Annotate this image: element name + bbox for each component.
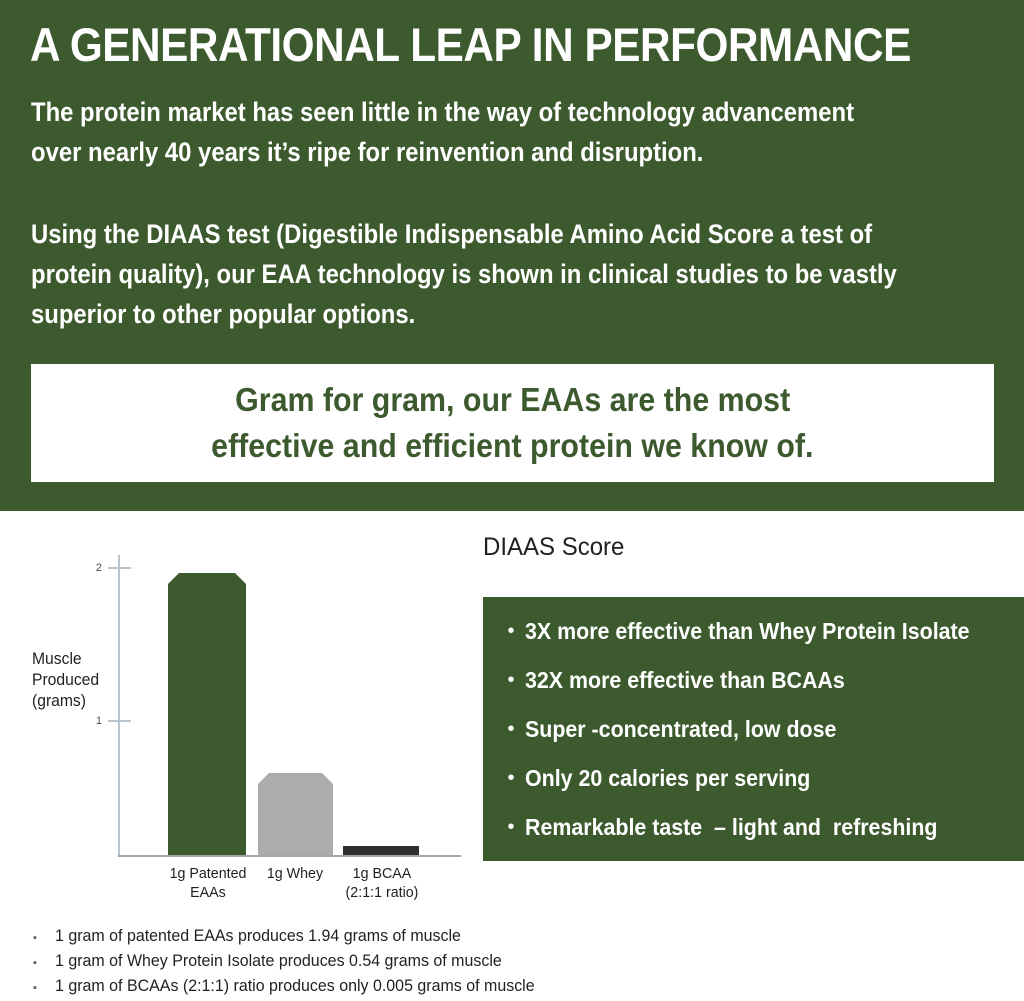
bullet-icon: • xyxy=(497,714,525,744)
bullet-icon: • xyxy=(497,616,525,646)
infographic-page: A GENERATIONAL LEAP IN PERFORMANCE The p… xyxy=(0,0,1024,998)
y-axis-label: Muscle Produced (grams) xyxy=(32,649,108,712)
footnote-list: ▪ 1 gram of patented EAAs produces 1.94 … xyxy=(33,923,733,998)
footnote-item-1-label: 1 gram of patented EAAs produces 1.94 gr… xyxy=(55,923,461,948)
bar-bcaa xyxy=(343,846,419,855)
benefit-item-3: • Super -concentrated, low dose xyxy=(483,714,1024,763)
x-category-label-eaas-line-2: EAAs xyxy=(155,883,261,902)
benefit-item-4: • Only 20 calories per serving xyxy=(483,763,1024,812)
quote-callout-box: Gram for gram, our EAAs are the most eff… xyxy=(31,364,994,482)
bar-patented-eaas xyxy=(168,573,246,855)
bullet-icon: • xyxy=(497,665,525,695)
square-bullet-icon: ▪ xyxy=(33,951,55,976)
y-axis-line xyxy=(118,555,120,856)
benefit-item-1-label: 3X more effective than Whey Protein Isol… xyxy=(525,616,970,646)
y-tick-label-2: 2 xyxy=(84,562,102,574)
square-bullet-icon: ▪ xyxy=(33,976,55,1001)
benefit-item-2-label: 32X more effective than BCAAs xyxy=(525,665,845,695)
square-bullet-icon: ▪ xyxy=(33,926,55,951)
bullet-icon: • xyxy=(497,812,525,842)
x-category-label-whey-line-1: 1g Whey xyxy=(249,864,340,883)
y-axis-label-line-2: Produced xyxy=(32,670,108,691)
bullet-icon: • xyxy=(497,763,525,793)
footnote-item-2: ▪ 1 gram of Whey Protein Isolate produce… xyxy=(33,948,733,973)
x-category-label-eaas-line-1: 1g Patented xyxy=(155,864,261,883)
x-axis-baseline xyxy=(118,855,461,857)
footnote-item-2-label: 1 gram of Whey Protein Isolate produces … xyxy=(55,948,502,973)
footnote-item-3-label: 1 gram of BCAAs (2:1:1) ratio produces o… xyxy=(55,973,535,998)
y-tick-2 xyxy=(108,567,131,569)
x-category-label-eaas: 1g Patented EAAs xyxy=(155,864,261,902)
footnote-item-1: ▪ 1 gram of patented EAAs produces 1.94 … xyxy=(33,923,733,948)
hero-section: A GENERATIONAL LEAP IN PERFORMANCE The p… xyxy=(0,0,1024,511)
bar-chart: Muscle Produced (grams) 2 1 1g Patented … xyxy=(0,511,480,911)
x-category-label-whey: 1g Whey xyxy=(249,864,340,883)
benefit-item-1: • 3X more effective than Whey Protein Is… xyxy=(483,616,1024,665)
diaas-score-heading: DIAAS Score xyxy=(483,533,624,562)
benefit-item-5-label: Remarkable taste – light and refreshing xyxy=(525,812,937,842)
benefit-item-2: • 32X more effective than BCAAs xyxy=(483,665,1024,714)
benefit-item-4-label: Only 20 calories per serving xyxy=(525,763,810,793)
benefit-item-5: • Remarkable taste – light and refreshin… xyxy=(483,812,1024,861)
quote-line-1: Gram for gram, our EAAs are the most xyxy=(235,377,790,423)
hero-paragraph-1: The protein market has seen little in th… xyxy=(31,92,909,172)
x-category-label-bcaa: 1g BCAA (2:1:1 ratio) xyxy=(333,864,432,902)
footnote-item-3: ▪ 1 gram of BCAAs (2:1:1) ratio produces… xyxy=(33,973,733,998)
y-tick-label-1: 1 xyxy=(84,715,102,727)
y-axis-label-line-1: Muscle xyxy=(32,649,108,670)
y-tick-1 xyxy=(108,720,131,722)
benefits-panel: • 3X more effective than Whey Protein Is… xyxy=(483,597,1024,861)
page-title: A GENERATIONAL LEAP IN PERFORMANCE xyxy=(30,17,898,73)
hero-paragraph-2: Using the DIAAS test (Digestible Indispe… xyxy=(31,214,909,334)
x-category-label-bcaa-line-2: (2:1:1 ratio) xyxy=(333,883,432,902)
y-axis-label-line-3: (grams) xyxy=(32,691,108,712)
benefit-item-3-label: Super -concentrated, low dose xyxy=(525,714,836,744)
quote-line-2: effective and efficient protein we know … xyxy=(211,423,813,469)
bar-whey xyxy=(258,773,333,855)
x-category-label-bcaa-line-1: 1g BCAA xyxy=(333,864,432,883)
